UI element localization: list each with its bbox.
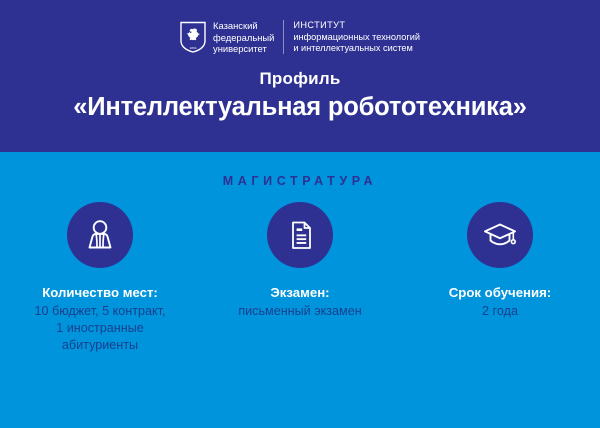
info-card-heading: Срок обучения: (449, 284, 551, 302)
main-band: МАГИСТРАТУРА Количество мест: 10 бюджет,… (0, 152, 600, 428)
info-card-exam: Экзамен: письменный экзамен (200, 202, 400, 320)
info-card-body-line: абитуриенты (34, 337, 165, 354)
kfu-logo-line-2: федеральный (213, 32, 274, 43)
graduate-person-icon (67, 202, 133, 268)
info-card-body-line: письменный экзамен (238, 303, 361, 320)
kfu-logo-text: Казанский федеральный университет (213, 20, 274, 54)
poster: 1804 Казанский федеральный университет И… (0, 0, 600, 428)
page-title: Профиль «Интеллектуальная робототехника» (0, 68, 600, 124)
kfu-shield-griffin-icon: 1804 (180, 21, 206, 53)
itis-logo-line-2: информационных технологий (293, 32, 420, 44)
kfu-logo: 1804 Казанский федеральный университет (180, 20, 274, 54)
title-subtitle: Профиль (0, 68, 600, 90)
info-card-duration: Срок обучения: 2 года (400, 202, 600, 320)
header-band: 1804 Казанский федеральный университет И… (0, 0, 600, 152)
logo-divider (283, 20, 284, 54)
itis-logo-line-1: ИНСТИТУТ (293, 20, 420, 32)
info-card-body-line: 2 года (482, 303, 518, 320)
info-card-heading: Количество мест: (42, 284, 158, 302)
info-card-body: 2 года (482, 303, 518, 320)
graduation-cap-icon (467, 202, 533, 268)
itis-logo-text: ИНСТИТУТ информационных технологий и инт… (293, 20, 420, 55)
kfu-logo-line-1: Казанский (213, 20, 274, 31)
info-card-body: письменный экзамен (238, 303, 361, 320)
info-card-body-line: 10 бюджет, 5 контракт, (34, 303, 165, 320)
svg-text:1804: 1804 (190, 47, 197, 51)
info-card-body-line: 1 иностранные (34, 320, 165, 337)
kfu-logo-line-3: университет (213, 43, 274, 54)
info-cards: Количество мест: 10 бюджет, 5 контракт, … (0, 202, 600, 354)
document-exam-icon (267, 202, 333, 268)
degree-level-label: МАГИСТРАТУРА (0, 174, 600, 188)
info-card-places: Количество мест: 10 бюджет, 5 контракт, … (0, 202, 200, 354)
info-card-heading: Экзамен: (270, 284, 329, 302)
title-main: «Интеллектуальная робототехника» (0, 90, 600, 124)
logo-row: 1804 Казанский федеральный университет И… (0, 20, 600, 55)
info-card-body: 10 бюджет, 5 контракт, 1 иностранные аби… (34, 303, 165, 354)
itis-logo-line-3: и интеллектуальных систем (293, 43, 420, 55)
